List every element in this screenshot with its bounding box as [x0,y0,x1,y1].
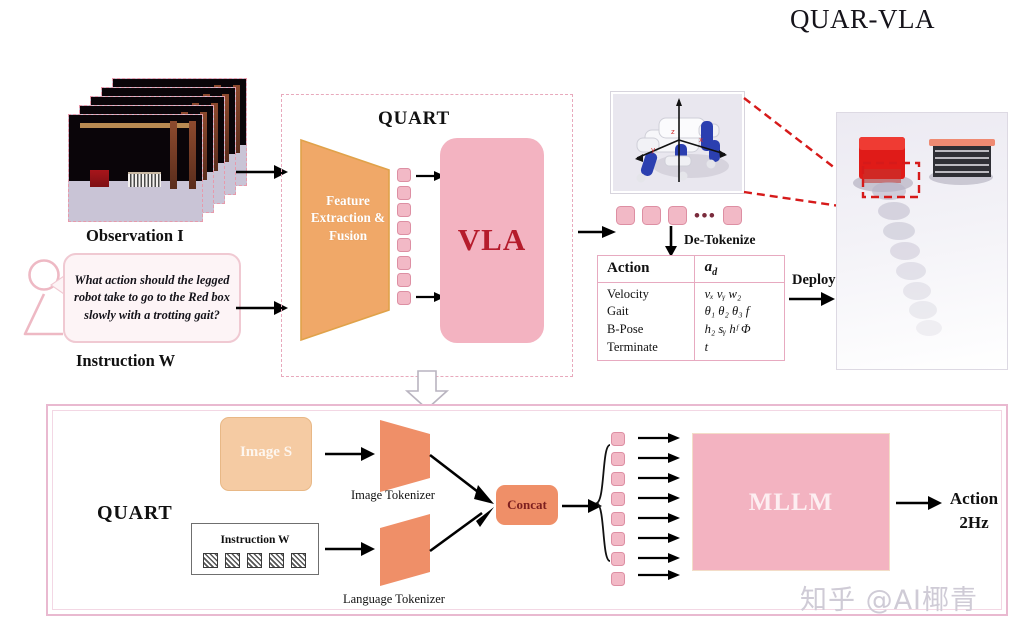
instruction-text: What action should the legged robot take… [73,272,231,323]
arrow-image-to-tokenizer [325,445,377,463]
mllm-label: MLLM [692,489,890,517]
observation-frame-stack [68,78,258,223]
token-square [397,168,411,182]
token-square [611,532,625,546]
table-row: vₓ vᵧ w₂ [705,286,784,304]
token-square [611,492,625,506]
token-square [611,512,625,526]
arrow-image-tokens-to-concat [430,455,500,509]
instruction-speech-bubble: What action should the legged robot take… [63,253,241,343]
hatched-token [291,553,306,568]
arrow-instruction-to-tokenizer [325,540,377,558]
token-square [723,206,742,225]
arrows-tokens-to-mllm [638,430,688,578]
diagram-canvas: QUAR-VLA [0,0,1024,634]
detokenize-token-row: ••• [616,206,742,225]
language-tokenizer-label: Language Tokenizer [343,592,445,607]
svg-text:x: x [699,136,703,144]
instruction-input-label: Instruction W [191,534,319,546]
token-square [397,203,411,217]
token-square [642,206,661,225]
token-square [611,572,625,586]
token-square [611,472,625,486]
token-square [611,452,625,466]
token-square [611,432,625,446]
svg-text:y: y [651,146,655,154]
vla-label: VLA [440,222,544,258]
robot-inset-image: zxy [611,92,744,193]
image-input-label: Image S [220,444,312,461]
action-output-line1: Action [932,487,1016,511]
instruction-token-row [203,553,306,568]
table-row: B-Pose [607,321,694,339]
page-title: QUAR-VLA [790,4,935,35]
observation-frame-front [68,114,203,222]
arrow-detokenize-down [663,226,679,258]
concat-label: Concat [496,497,558,513]
zoom-connector-lines [744,96,844,276]
svg-text:z: z [671,128,675,136]
watermark: 知乎 @AI椰青 [800,578,978,617]
quart-bottom-token-column [611,432,625,586]
feature-extraction-label: Feature Extraction & Fusion [305,192,391,244]
table-body-row: Velocity Gait B-Pose Terminate vₓ vᵧ w₂ … [598,282,784,360]
instruction-label: Instruction W [76,351,175,371]
language-tokenizer-trapezoid [378,512,432,588]
table-row: θ₁ θ₂ θ₃ f [705,303,784,321]
deployment-simulation-panel [836,112,1008,370]
header-ad: ad [694,256,784,282]
quart-top-label: QUART [378,108,450,130]
arrow-language-tokens-to-concat [430,503,500,557]
image-tokenizer-label: Image Tokenizer [351,488,435,503]
action-table: Action ad Velocity Gait B-Pose Terminate… [597,255,785,361]
arrow-vla-to-detokenize [578,222,618,242]
arrow-deploy [789,290,837,308]
table-row: Terminate [607,339,694,357]
action-values-cell: vₓ vᵧ w₂ θ₁ θ₂ θ₃ f h₂ sᵧ hᶠ Φ t [694,282,784,360]
table-header-row: Action ad [598,256,784,282]
quart-top-token-column [397,168,411,305]
action-names-cell: Velocity Gait B-Pose Terminate [598,282,694,360]
table-row: Gait [607,303,694,321]
token-square [397,256,411,270]
hatched-token [269,553,284,568]
token-square [397,221,411,235]
deploy-label: Deploy [792,272,836,289]
ellipsis: ••• [694,211,716,221]
token-square [616,206,635,225]
observation-label: Observation I [86,226,184,246]
table-row: t [705,339,784,357]
quart-bottom-label: QUART [97,502,173,525]
table-row: Velocity [607,286,694,304]
token-square [397,186,411,200]
token-square [397,273,411,287]
detokenize-label: De-Tokenize [684,232,756,248]
token-square [668,206,687,225]
action-output-label: Action 2Hz [932,487,1016,535]
token-square [397,291,411,305]
header-action: Action [598,256,694,282]
table-row: h₂ sᵧ hᶠ Φ [705,321,784,339]
action-output-line2: 2Hz [932,511,1016,535]
token-square [611,552,625,566]
image-tokenizer-trapezoid [378,418,432,494]
hatched-token [247,553,262,568]
hatched-token [225,553,240,568]
token-square [397,238,411,252]
hatched-token [203,553,218,568]
